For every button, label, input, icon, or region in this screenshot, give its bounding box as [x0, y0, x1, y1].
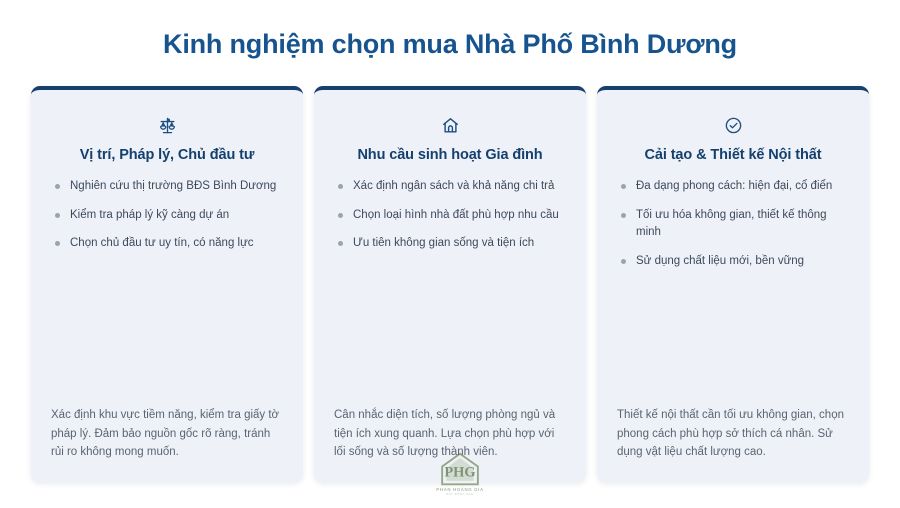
list-item-label: Đa dạng phong cách: hiện đại, cổ điển — [636, 180, 832, 192]
card-note: Cân nhắc diện tích, số lượng phòng ngủ v… — [334, 392, 566, 462]
experience-infographic-page: Kinh nghiệm chọn mua Nhà Phố Bình Dương … — [0, 0, 900, 508]
list-item-label: Chọn loại hình nhà đất phù hợp nhu cầu — [353, 209, 559, 221]
watermark-name: PHAN HOÀNG GIA — [436, 487, 483, 492]
card-bullet-list: Đa dạng phong cách: hiện đại, cổ điển Tố… — [617, 178, 849, 271]
list-item: Chọn loại hình nhà đất phù hợp nhu cầu — [336, 207, 566, 225]
list-item-label: Nghiên cứu thị trường BĐS Bình Dương — [70, 180, 276, 192]
list-item-label: Sử dụng chất liệu mới, bền vững — [636, 255, 804, 267]
page-title: Kinh nghiệm chọn mua Nhà Phố Bình Dương — [0, 28, 900, 62]
balance-scale-icon — [51, 112, 283, 138]
card-bullet-list: Nghiên cứu thị trường BĐS Bình Dương Kiể… — [51, 178, 283, 253]
bullet-dot-icon — [621, 184, 626, 189]
card-heading: Vị trí, Pháp lý, Chủ đầu tư — [51, 146, 283, 165]
watermark-tagline: BẤT ĐỘNG SẢN — [446, 492, 473, 496]
bullet-dot-icon — [55, 241, 60, 246]
list-item-label: Kiểm tra pháp lý kỹ càng dự án — [70, 209, 229, 221]
list-item-label: Xác định ngân sách và khả năng chi trả — [353, 180, 554, 192]
card-heading: Nhu cầu sinh hoạt Gia đình — [334, 146, 566, 165]
list-item-label: Ưu tiên không gian sống và tiện ích — [353, 237, 534, 249]
cards-row: Vị trí, Pháp lý, Chủ đầu tư Nghiên cứu t… — [31, 86, 869, 482]
bullet-dot-icon — [55, 213, 60, 218]
list-item: Xác định ngân sách và khả năng chi trả — [336, 178, 566, 196]
card-renovation-interior-design: Cải tạo & Thiết kế Nội thất Đa dạng phon… — [597, 86, 869, 482]
list-item: Tối ưu hóa không gian, thiết kế thông mi… — [619, 207, 849, 243]
list-item: Ưu tiên không gian sống và tiện ích — [336, 235, 566, 253]
bullet-dot-icon — [621, 213, 626, 218]
list-item: Nghiên cứu thị trường BĐS Bình Dương — [53, 178, 283, 196]
list-item: Chọn chủ đầu tư uy tín, có năng lực — [53, 235, 283, 253]
bullet-dot-icon — [338, 184, 343, 189]
card-note: Thiết kế nội thất cần tối ưu không gian,… — [617, 392, 849, 462]
list-item: Sử dụng chất liệu mới, bền vững — [619, 253, 849, 271]
check-circle-icon — [617, 112, 849, 138]
card-note: Xác định khu vực tiềm năng, kiểm tra giấ… — [51, 392, 283, 462]
card-heading: Cải tạo & Thiết kế Nội thất — [617, 146, 849, 165]
list-item-label: Tối ưu hóa không gian, thiết kế thông mi… — [636, 209, 827, 239]
list-item: Đa dạng phong cách: hiện đại, cổ điển — [619, 178, 849, 196]
card-location-legal-investor: Vị trí, Pháp lý, Chủ đầu tư Nghiên cứu t… — [31, 86, 303, 482]
bullet-dot-icon — [338, 241, 343, 246]
bullet-dot-icon — [621, 259, 626, 264]
home-icon — [334, 112, 566, 138]
card-family-living-needs: Nhu cầu sinh hoạt Gia đình Xác định ngân… — [314, 86, 586, 482]
bullet-dot-icon — [338, 213, 343, 218]
list-item-label: Chọn chủ đầu tư uy tín, có năng lực — [70, 237, 254, 249]
card-bullet-list: Xác định ngân sách và khả năng chi trả C… — [334, 178, 566, 253]
list-item: Kiểm tra pháp lý kỹ càng dự án — [53, 207, 283, 225]
bullet-dot-icon — [55, 184, 60, 189]
